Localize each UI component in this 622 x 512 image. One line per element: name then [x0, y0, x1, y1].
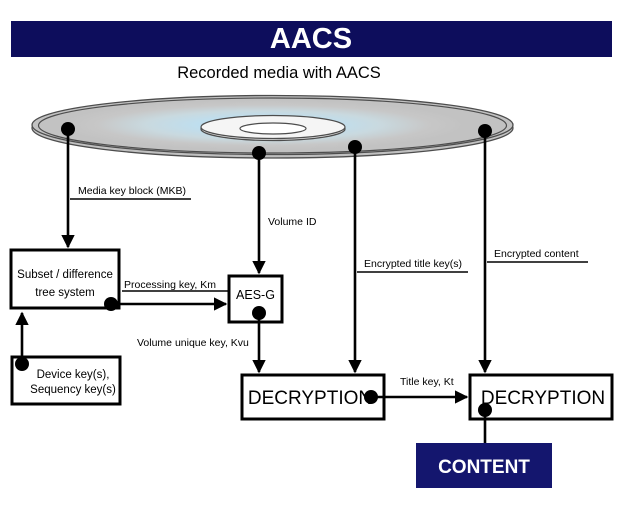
edge-label-encrypted-title-keys: Encrypted title key(s) — [364, 258, 462, 270]
edge-label-title-key: Title key, Kt — [400, 376, 454, 388]
node-subset-tree-line1: Subset / difference — [17, 269, 113, 281]
node-aes-g-label: AES-G — [236, 288, 275, 302]
edge-label-encrypted-content: Encrypted content — [494, 248, 579, 260]
node-decryption-1-label: DECRYPTION — [248, 388, 372, 409]
edge-label-volume-id: Volume ID — [268, 216, 317, 228]
node-content-label: CONTENT — [438, 457, 530, 478]
edge-label-processing-key: Processing key, Km — [124, 279, 216, 291]
node-decryption-2-label: DECRYPTION — [481, 388, 605, 409]
node-subset-tree-line2: tree system — [35, 287, 94, 299]
diagram-canvas: AACS Recorded media with AACS Media key … — [0, 0, 622, 512]
aacs-diagram-page: AACS Recorded media with AACS Media key … — [0, 0, 622, 512]
node-device-keys-line1: Device key(s), — [37, 369, 110, 381]
edge-label-volume-unique-key: Volume unique key, Kvu — [137, 337, 249, 349]
node-device-keys-line2: Sequency key(s) — [30, 384, 116, 396]
optical-disc — [32, 96, 513, 159]
subtitle: Recorded media with AACS — [177, 64, 381, 82]
page-title: AACS — [270, 23, 352, 55]
edge-label-mkb: Media key block (MKB) — [78, 185, 186, 197]
